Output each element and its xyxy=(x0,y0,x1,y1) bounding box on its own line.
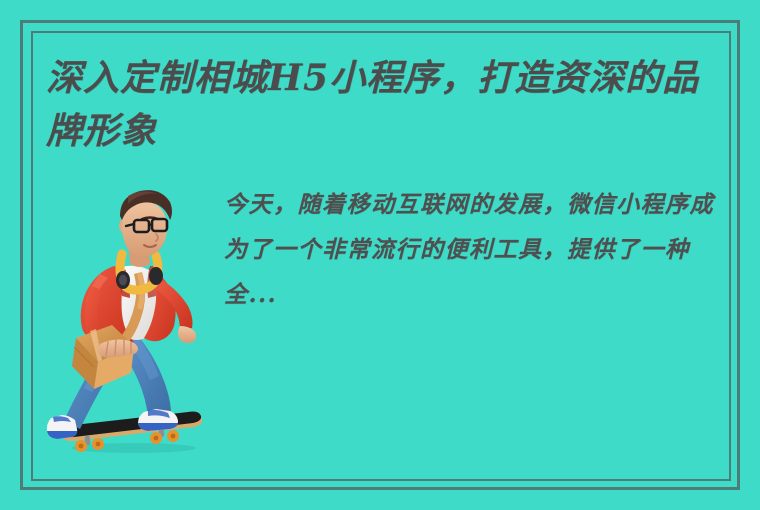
body-paragraph: 今天，随着移动互联网的发展，微信小程序成为了一个非常流行的便利工具，提供了一种全… xyxy=(224,182,724,317)
head xyxy=(119,190,172,256)
page-title: 深入定制相城H5小程序，打造资深的品牌形象 xyxy=(46,52,736,158)
skateboarder-with-box-illustration xyxy=(38,186,224,458)
poster-canvas: 深入定制相城H5小程序，打造资深的品牌形象 今天，随着移动互联网的发展，微信小程… xyxy=(0,0,760,510)
